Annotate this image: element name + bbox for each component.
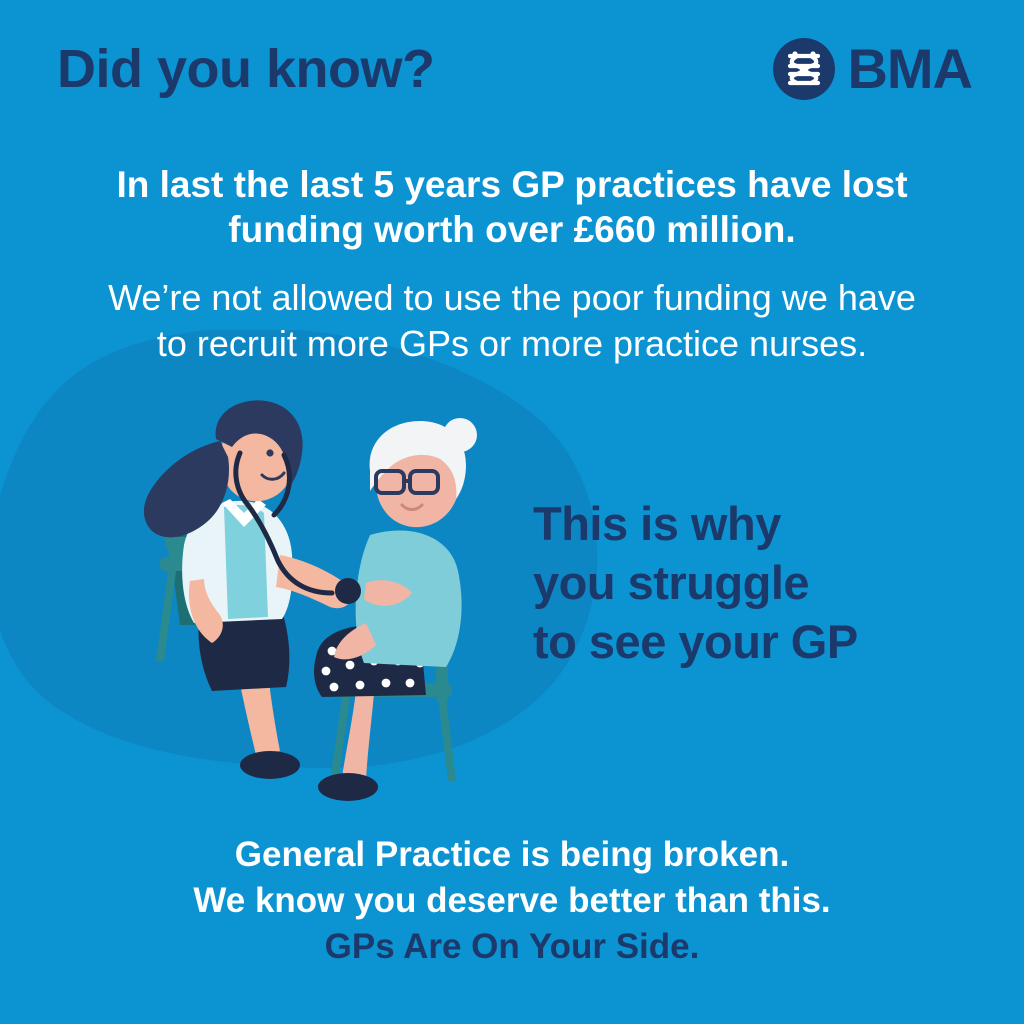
subcopy-line-1: We’re not allowed to use the poor fundin… <box>108 277 916 318</box>
footer-line-1: General Practice is being broken. <box>52 832 972 878</box>
subcopy-line-2: to recruit more GPs or more practice nur… <box>157 323 867 364</box>
statement-copy: This is why you struggle to see your GP <box>533 495 858 671</box>
statement-line-2: you struggle <box>533 556 809 609</box>
stat-line-2: funding worth over £660 million. <box>228 209 795 250</box>
bma-logo: BMA <box>773 38 972 100</box>
statement-line-1: This is why <box>533 497 781 550</box>
poster-canvas: Did you know? BMA In last the last 5 yea… <box>0 0 1024 1024</box>
stat-copy: In last the last 5 years GP practices ha… <box>62 162 962 252</box>
sub-copy: We’re not allowed to use the poor fundin… <box>52 275 972 367</box>
footer-line-3: GPs Are On Your Side. <box>52 924 972 970</box>
footer-copy: General Practice is being broken. We kno… <box>52 832 972 971</box>
stat-line-1: In last the last 5 years GP practices ha… <box>116 164 907 205</box>
statement-line-3: to see your GP <box>533 615 858 668</box>
footer-line-2: We know you deserve better than this. <box>52 878 972 924</box>
bma-wordmark: BMA <box>847 41 972 97</box>
doctor-examining-elderly-patient-illustration <box>120 395 550 835</box>
page-title: Did you know? <box>57 38 435 100</box>
bma-serpent-emblem-icon <box>773 38 835 100</box>
stethoscope-chestpiece-icon <box>335 578 361 604</box>
